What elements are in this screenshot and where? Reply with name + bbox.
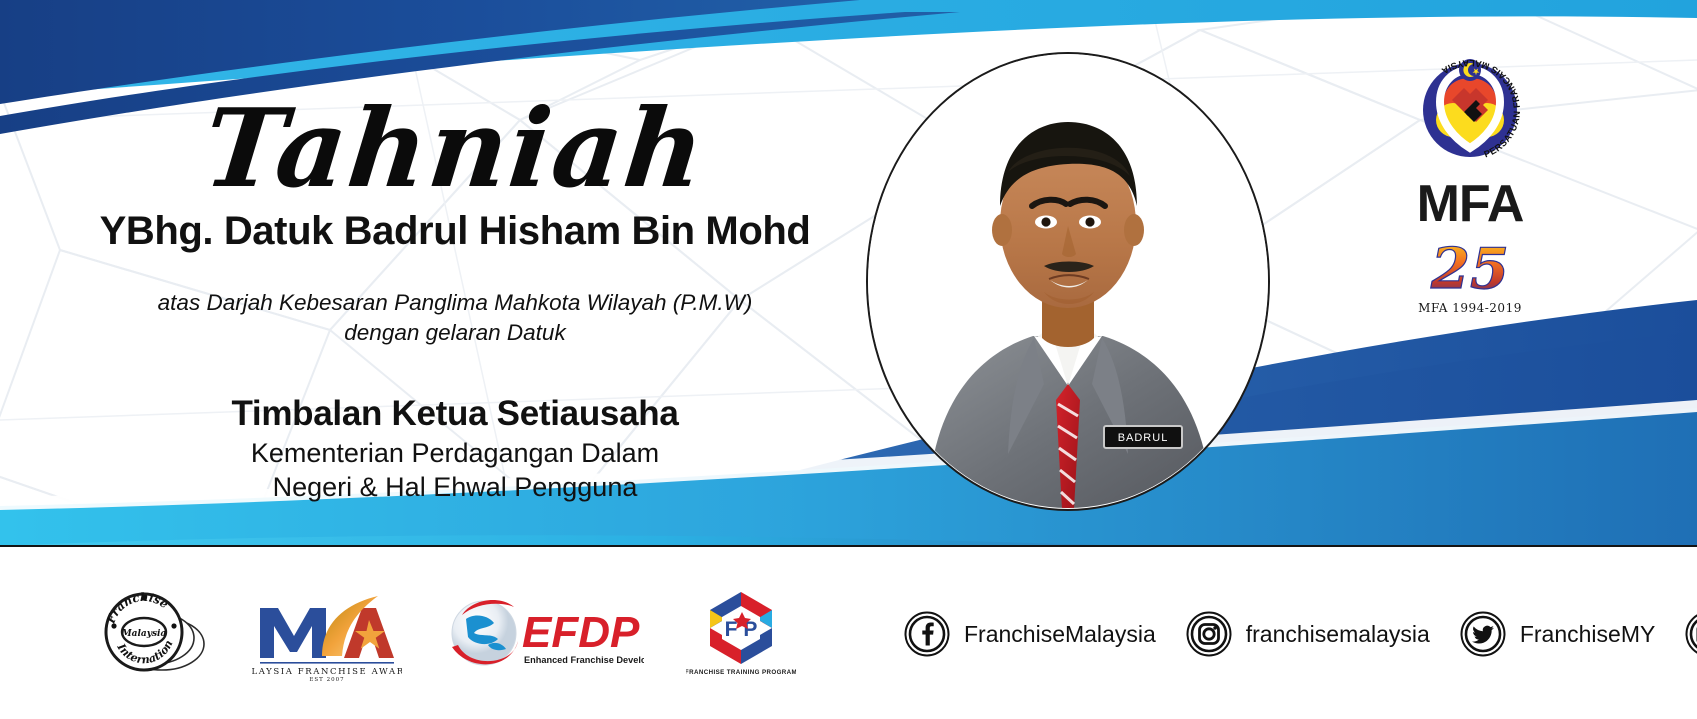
mfa-logo-cluster: PERSATUAN FRANCAIS MALAYSIA MFA 2	[1370, 48, 1570, 315]
logo-efdp: EFDP Enhanced Franchise Development Prog…	[444, 589, 644, 679]
name-badge: BADRUL	[1104, 426, 1182, 448]
portrait-illustration: BADRUL	[868, 54, 1268, 509]
efdp-acronym: EFDP	[522, 608, 640, 657]
anniversary-number: 25	[1430, 238, 1509, 300]
anniversary-years: MFA 1994-2019	[1370, 301, 1570, 315]
mfawards-est: EST 2007	[309, 677, 344, 682]
award-line-2: dengan gelaran Datuk	[60, 318, 850, 348]
facebook-label[interactable]: FranchiseMalaysia	[964, 621, 1156, 648]
page-title: Tahniah	[54, 95, 855, 203]
banner-artwork: Tahniah YBhg. Datuk Badrul Hisham Bin Mo…	[0, 0, 1697, 545]
efdp-caption: Enhanced Franchise Development Program	[524, 655, 644, 665]
social-email[interactable]: secrtmfa@mfa.org.my	[1685, 611, 1697, 657]
twitter-label[interactable]: FranchiseMY	[1520, 621, 1655, 648]
honoree-portrait: BADRUL	[866, 52, 1270, 511]
mfa-acronym: MFA	[1370, 178, 1570, 230]
twitter-icon[interactable]	[1460, 611, 1506, 657]
instagram-icon[interactable]	[1186, 611, 1232, 657]
social-facebook[interactable]: FranchiseMalaysia	[904, 611, 1156, 657]
logo-franchise-international-malaysia: Franchise Malaysia International	[92, 586, 210, 682]
facebook-icon[interactable]	[904, 611, 950, 657]
logo-franchise-training-program: F P FRANCHISE TRAINING PROGRAM	[686, 588, 796, 680]
mfa-crest-icon: PERSATUAN FRANCAIS MALAYSIA	[1408, 48, 1532, 172]
fim-line-2: Malaysia	[121, 629, 167, 639]
logo-malaysia-franchise-awards: MALAYSIA FRANCHISE AWARDS EST 2007	[252, 586, 402, 682]
mfawards-caption: MALAYSIA FRANCHISE AWARDS	[252, 667, 402, 677]
award-description: atas Darjah Kebesaran Panglima Mahkota W…	[60, 288, 850, 348]
message-block: Tahniah YBhg. Datuk Badrul Hisham Bin Mo…	[60, 95, 850, 505]
social-instagram[interactable]: franchisemalaysia	[1186, 611, 1430, 657]
honoree-name: YBhg. Datuk Badrul Hisham Bin Mohd	[60, 209, 850, 254]
ministry-line-2: Negeri & Hal Ehwal Pengguna	[60, 470, 850, 505]
social-links: FranchiseMalaysia franchisemalaysia	[904, 611, 1697, 657]
ministry-name: Kementerian Perdagangan Dalam Negeri & H…	[60, 436, 850, 505]
mfa-anniversary-logo: 25 MFA 1994-2019	[1370, 238, 1570, 315]
partner-logos: Franchise Malaysia International	[0, 586, 796, 682]
congratulations-banner: Tahniah YBhg. Datuk Badrul Hisham Bin Mo…	[0, 0, 1697, 719]
ministry-line-1: Kementerian Perdagangan Dalam	[60, 436, 850, 471]
ftp-caption: FRANCHISE TRAINING PROGRAM	[686, 669, 796, 676]
social-twitter[interactable]: FranchiseMY	[1460, 611, 1655, 657]
instagram-label[interactable]: franchisemalaysia	[1246, 621, 1430, 648]
footer-bar: Franchise Malaysia International	[0, 545, 1697, 719]
email-icon[interactable]	[1685, 611, 1697, 657]
award-line-1: atas Darjah Kebesaran Panglima Mahkota W…	[60, 288, 850, 318]
svg-text:BADRUL: BADRUL	[1118, 432, 1169, 444]
honoree-position: Timbalan Ketua Setiausaha	[60, 394, 850, 434]
